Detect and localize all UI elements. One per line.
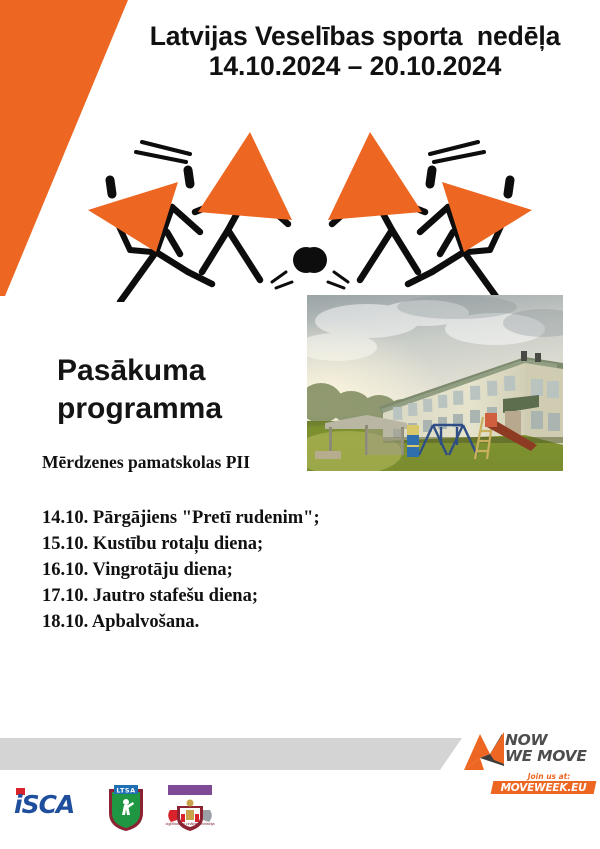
- join-us-label: Join us at:: [505, 772, 593, 781]
- running-figures-illustration: [60, 112, 560, 302]
- nwm-line-2: WE MOVE: [505, 749, 587, 765]
- ministry-logo-icon: [160, 784, 220, 840]
- school-building-photo: [307, 295, 563, 471]
- footer-gray-band: [0, 738, 480, 770]
- svg-text:LTSA: LTSA: [116, 786, 135, 794]
- moveweek-url-label[interactable]: MOVEWEEK.EU: [492, 782, 595, 794]
- isca-logo-icon: iSCA: [14, 786, 94, 818]
- now-we-move-wordmark: NOW WE MOVE: [505, 733, 587, 765]
- list-item: 17.10. Jautro stafešu diena;: [42, 583, 462, 609]
- poster-title: Latvijas Veselības sporta nedēļa 14.10.2…: [120, 22, 590, 82]
- svg-text:iSCA: iSCA: [14, 790, 74, 818]
- list-item: 16.10. Vingrotāju diena;: [42, 557, 462, 583]
- page-headline: Pasākuma programma: [57, 352, 307, 429]
- ltsa-logo-icon: LTSA: [106, 783, 146, 833]
- poster-canvas: Latvijas Veselības sporta nedēļa 14.10.2…: [0, 0, 600, 849]
- school-name-subtitle: Mērdzenes pamatskolas PII: [42, 452, 250, 473]
- list-item: 15.10. Kustību rotaļu diena;: [42, 531, 462, 557]
- ball-icon: [293, 247, 327, 273]
- ministry-caption-label: Izglītības un zinātnes ministrija: [155, 822, 225, 827]
- program-list: 14.10. Pārgājiens "Pretī rudenim"; 15.10…: [42, 505, 462, 635]
- headline-line-2: programma: [57, 390, 307, 428]
- climbing-panels: [407, 425, 419, 457]
- figure-torso-triangles: [88, 132, 532, 252]
- headline-line-1: Pasākuma: [57, 352, 307, 390]
- title-line-2: 14.10.2024 – 20.10.2024: [120, 52, 590, 82]
- list-item: 18.10. Apbalvošana.: [42, 609, 462, 635]
- list-item: 14.10. Pārgājiens "Pretī rudenim";: [42, 505, 462, 531]
- title-line-1: Latvijas Veselības sporta nedēļa: [120, 22, 590, 52]
